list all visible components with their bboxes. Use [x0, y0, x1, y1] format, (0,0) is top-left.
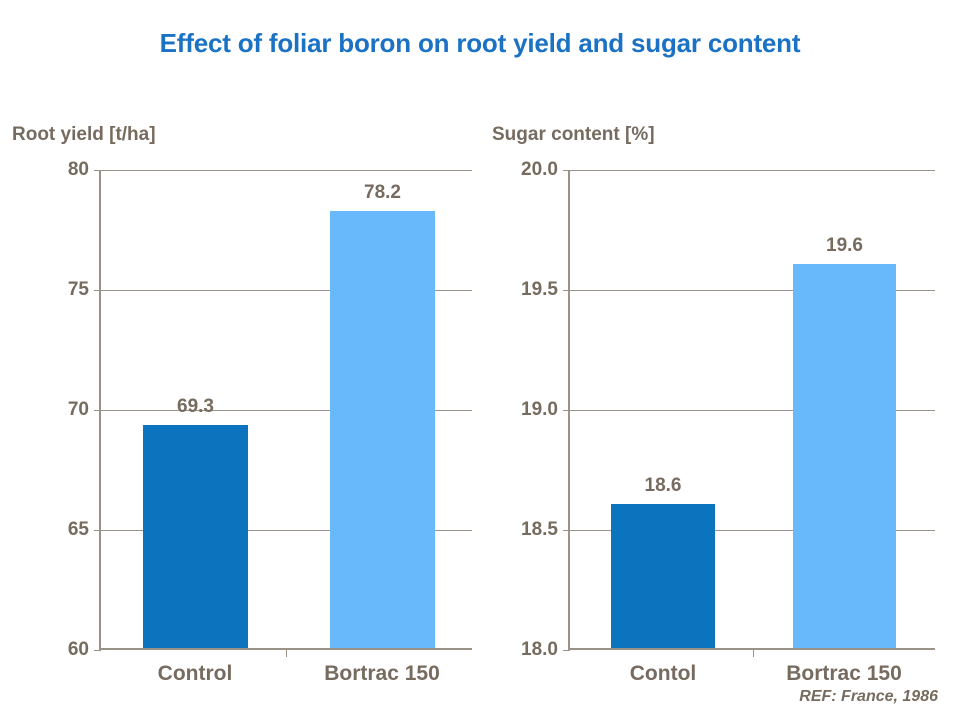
ytick-mark-sugar-195	[563, 290, 570, 291]
ytick-label-sugar-195: 19.5	[521, 279, 558, 301]
ytick-label-sugar-20: 20.0	[521, 159, 558, 181]
bar-root-control[interactable]: 69.3	[143, 425, 248, 648]
ytick-mark-sugar-19	[563, 410, 570, 411]
xtick-mark-sugar-middle	[753, 648, 754, 657]
bar-value-sugar-bortrac: 19.6	[826, 235, 863, 257]
ytick-mark-root-75	[94, 290, 101, 291]
xtick-label-root-bortrac: Bortrac 150	[324, 662, 440, 686]
ytick-label-root-80: 80	[68, 159, 89, 181]
chart-panel-root-yield: Root yield [t/ha] 80 75 70 65 60 69.3 Co…	[0, 0, 490, 720]
ytick-label-sugar-19: 19.0	[521, 399, 558, 421]
ytick-label-root-60: 60	[68, 639, 89, 661]
xtick-label-sugar-control: Contol	[630, 662, 696, 686]
plot-area-root-yield: 80 75 70 65 60 69.3 Control 78.2 Bortrac…	[99, 170, 472, 650]
ytick-mark-sugar-20	[563, 170, 570, 171]
bar-sugar-control[interactable]: 18.6	[611, 504, 715, 648]
bar-sugar-bortrac[interactable]: 19.6	[793, 264, 896, 648]
gridline-root-80	[101, 170, 472, 171]
xtick-mark-root-middle	[286, 648, 287, 657]
ytick-mark-sugar-185	[563, 530, 570, 531]
xtick-label-sugar-bortrac: Bortrac 150	[786, 662, 902, 686]
chart-panel-sugar-content: Sugar content [%] 20.0 19.5 19.0 18.5 18…	[480, 0, 960, 720]
y-axis-title-sugar-content: Sugar content [%]	[492, 124, 655, 146]
xtick-label-root-control: Control	[158, 662, 233, 686]
ytick-label-sugar-185: 18.5	[521, 519, 558, 541]
reference-note: REF: France, 1986	[799, 688, 938, 706]
ytick-label-root-70: 70	[68, 399, 89, 421]
ytick-mark-root-70	[94, 410, 101, 411]
bar-value-root-control: 69.3	[177, 396, 214, 418]
bar-root-bortrac[interactable]: 78.2	[330, 211, 435, 648]
ytick-label-root-75: 75	[68, 279, 89, 301]
bar-value-sugar-control: 18.6	[645, 475, 682, 497]
ytick-label-sugar-18: 18.0	[521, 639, 558, 661]
ytick-mark-root-80	[94, 170, 101, 171]
ytick-mark-root-65	[94, 530, 101, 531]
ytick-mark-sugar-18	[563, 650, 570, 651]
bar-value-root-bortrac: 78.2	[364, 182, 401, 204]
ytick-label-root-65: 65	[68, 519, 89, 541]
ytick-mark-root-60	[94, 650, 101, 651]
plot-area-sugar-content: 20.0 19.5 19.0 18.5 18.0 18.6 Contol 19.…	[568, 170, 935, 650]
gridline-sugar-20	[570, 170, 935, 171]
y-axis-title-root-yield: Root yield [t/ha]	[12, 124, 156, 146]
